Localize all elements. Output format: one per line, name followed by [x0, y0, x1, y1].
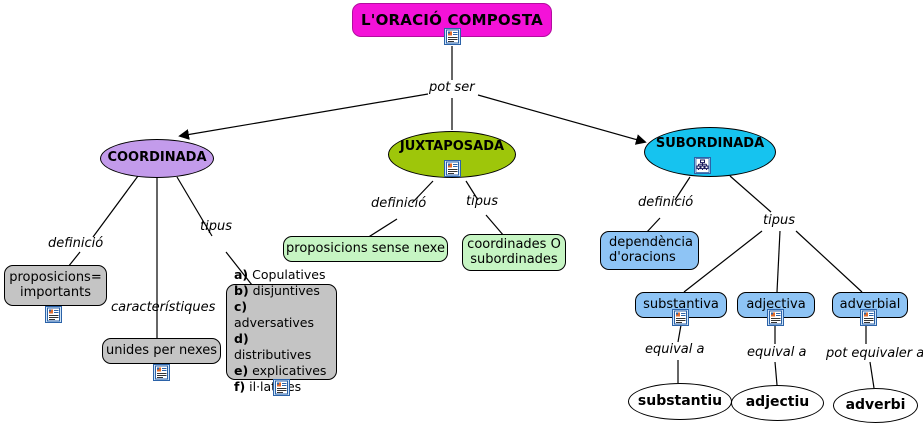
- list-item-letter: e): [234, 363, 248, 378]
- list-item: d) distributives: [234, 331, 329, 363]
- node-label: adjectiu: [732, 395, 823, 411]
- edge-sub-tipus-a: [730, 176, 771, 212]
- document-icon[interactable]: [672, 309, 689, 326]
- node-label: dependència d'oracions: [609, 236, 698, 265]
- list-item-letter: f): [234, 379, 245, 394]
- edge-sub-tipus-adjectiva: [777, 231, 780, 292]
- list-item-text: disjuntives: [249, 283, 320, 298]
- document-icon[interactable]: [444, 160, 461, 177]
- node-coordinada-tipus-list[interactable]: a) Copulativesb) disjuntivesc) adversati…: [226, 284, 337, 380]
- node-juxtaposada-tipus[interactable]: coordinades O subordinades: [462, 234, 566, 271]
- list-item-letter: a): [234, 267, 248, 282]
- link-label-coordinada-caracteristiques: característiques: [111, 300, 215, 315]
- node-coordinada-definicio[interactable]: proposicions= importants: [4, 265, 107, 306]
- list-item-text: adversatives: [234, 315, 314, 330]
- link-label-text: tipus: [200, 219, 232, 234]
- edge-potser-coordinada: [180, 94, 428, 136]
- link-label-juxtaposada-tipus: tipus: [466, 194, 498, 209]
- list-item-text: Copulatives: [248, 267, 325, 282]
- link-label-substantiva-equival-a: equival a: [645, 342, 704, 357]
- link-label-text: tipus: [763, 213, 795, 228]
- link-label-text: definició: [48, 236, 103, 251]
- document-icon[interactable]: [767, 309, 784, 326]
- document-icon[interactable]: [444, 28, 461, 45]
- list-item-letter: d): [234, 331, 249, 346]
- node-subordinada-definicio[interactable]: dependència d'oracions: [600, 231, 699, 270]
- edge-adjectiva-adjectiu: [775, 362, 777, 385]
- node-label: adverbi: [834, 398, 917, 414]
- link-label-text: definició: [638, 195, 693, 210]
- edge-substantiva-equival-a: [678, 325, 681, 342]
- link-label-text: equival a: [747, 345, 806, 360]
- link-label-adjectiva-equival-a: equival a: [747, 345, 806, 360]
- node-label: COORDINADA: [101, 151, 213, 166]
- list-item-text: explicatives: [248, 363, 326, 378]
- list-item-letter: b): [234, 283, 249, 298]
- link-label-subordinada-definicio: definició: [638, 195, 693, 210]
- link-label-pot-ser: pot ser: [429, 80, 475, 95]
- edge-coordinada-definicio-a: [93, 176, 138, 237]
- link-label-text: equival a: [645, 342, 704, 357]
- list-item: e) explicatives: [234, 363, 329, 379]
- node-adjectiu[interactable]: adjectiu: [731, 385, 824, 421]
- edge-potser-subordinada: [478, 95, 645, 142]
- list-item-text: distributives: [234, 347, 311, 362]
- link-label-text: tipus: [466, 194, 498, 209]
- link-label-text: definició: [371, 196, 426, 211]
- node-label: proposicions= importants: [5, 271, 106, 300]
- document-icon[interactable]: [860, 309, 877, 326]
- edge-sub-tipus-adverbial: [796, 231, 862, 292]
- link-label-coordinada-tipus: tipus: [200, 219, 232, 234]
- link-label-adverbial-equival-a: pot equivaler a: [826, 346, 923, 361]
- node-list-content: a) Copulativesb) disjuntivesc) adversati…: [234, 267, 329, 395]
- concept-map-icon[interactable]: [694, 157, 711, 174]
- node-label: L'ORACIÓ COMPOSTA: [353, 12, 551, 29]
- node-coordinada-caracteristiques[interactable]: unides per nexes: [102, 338, 221, 364]
- document-icon[interactable]: [153, 364, 170, 381]
- edge-adverbial-adverbi: [870, 362, 874, 388]
- list-item-letter: c): [234, 299, 247, 314]
- concept-map-canvas: L'ORACIÓ COMPOSTA COORDINADA JUXTAPOSADA: [0, 0, 923, 428]
- list-item: b) disjuntives: [234, 283, 329, 299]
- node-label: SUBORDINADA: [645, 137, 775, 152]
- node-label: coordinades O subordinades: [463, 238, 565, 267]
- node-juxtaposada-definicio[interactable]: proposicions sense nexe: [283, 236, 448, 262]
- node-substantiu[interactable]: substantiu: [628, 383, 732, 420]
- node-label: JUXTAPOSADA: [389, 140, 515, 155]
- link-label-text: pot ser: [429, 80, 475, 95]
- link-label-coordinada-definicio: definició: [48, 236, 103, 251]
- link-label-juxtaposada-definicio: definició: [371, 196, 426, 211]
- node-label: substantiu: [629, 394, 731, 410]
- node-label: proposicions sense nexe: [284, 242, 447, 257]
- node-label: unides per nexes: [103, 344, 220, 359]
- node-adverbi[interactable]: adverbi: [833, 388, 918, 423]
- node-coordinada[interactable]: COORDINADA: [100, 139, 214, 178]
- document-icon[interactable]: [273, 379, 290, 396]
- link-label-text: característiques: [111, 300, 215, 315]
- edge-jux-tipus-b: [486, 215, 504, 236]
- link-label-subordinada-tipus: tipus: [763, 213, 795, 228]
- document-icon[interactable]: [45, 306, 62, 323]
- list-item: c) adversatives: [234, 299, 329, 331]
- list-item: a) Copulatives: [234, 267, 329, 283]
- link-label-text: pot equivaler a: [826, 346, 923, 361]
